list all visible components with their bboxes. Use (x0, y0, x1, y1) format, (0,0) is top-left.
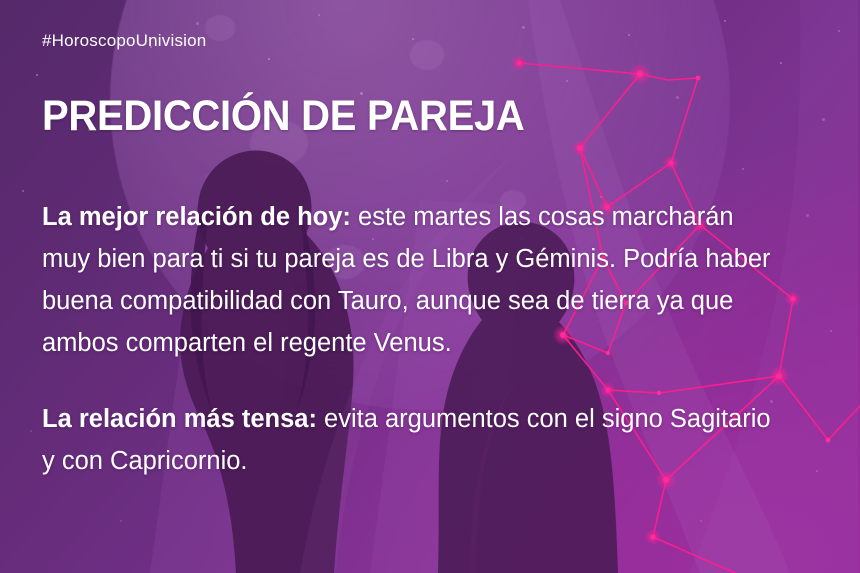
paragraph-lead-label: La mejor relación de hoy: (42, 203, 351, 231)
paragraph-best-relationship: La mejor relación de hoy: este martes la… (42, 196, 782, 364)
hashtag-label: #HoroscopoUnivision (42, 31, 206, 51)
prediction-body: La mejor relación de hoy: este martes la… (42, 196, 782, 482)
horoscope-card: #HoroscopoUnivision PREDICCIÓN DE PAREJA… (0, 0, 860, 573)
content-column: #HoroscopoUnivision PREDICCIÓN DE PAREJA… (42, 0, 822, 573)
paragraph-lead-label: La relación más tensa: (42, 405, 317, 433)
paragraph-tense-relationship: La relación más tensa: evita argumentos … (42, 398, 782, 482)
page-title: PREDICCIÓN DE PAREJA (42, 93, 525, 139)
